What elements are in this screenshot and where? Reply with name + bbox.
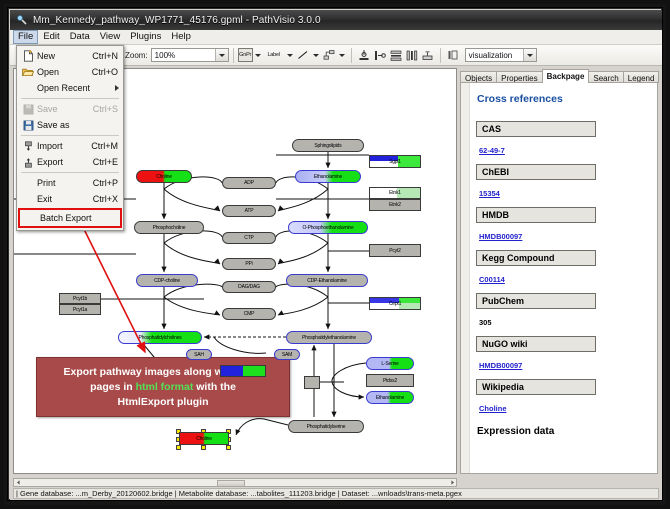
xref-source-cas: CAS <box>476 121 596 137</box>
menu-view[interactable]: View <box>95 30 125 44</box>
toolbar-separator <box>233 48 234 63</box>
callout-line-2-b: with the <box>193 381 236 393</box>
menu-item-open[interactable]: Open Ctrl+O <box>17 64 123 80</box>
blank-icon-2 <box>19 176 37 190</box>
toolbar-separator-3 <box>440 48 441 63</box>
xref-value-pubchem: 305 <box>479 318 492 327</box>
blank-icon <box>19 81 37 95</box>
xref-value-cas[interactable]: 62-49-7 <box>479 146 505 155</box>
xref-source-chebi: ChEBI <box>476 164 596 180</box>
menu-item-import-label: Import <box>37 141 91 151</box>
label-tool-label: Label <box>267 52 279 58</box>
line-dropdown-icon[interactable] <box>311 48 321 62</box>
datanode-tool-label: GnPr <box>239 52 251 58</box>
scroll-right-icon[interactable] <box>448 479 456 486</box>
statusbar: | Gene database: ...m_Derby_20120602.bri… <box>10 478 662 500</box>
label-dropdown-icon[interactable] <box>285 48 295 62</box>
label-tool-button[interactable]: Label <box>263 47 285 63</box>
backpage-scrollbar[interactable] <box>461 83 470 473</box>
scroll-left-icon[interactable] <box>14 479 22 486</box>
distribute-horizontal-icon[interactable] <box>404 47 420 63</box>
backpage-content: Cross references CAS 62-49-7 ChEBI 15354… <box>470 83 657 473</box>
distribute-vertical-icon[interactable] <box>388 47 404 63</box>
menu-item-save-as[interactable]: Save as <box>17 117 123 133</box>
xref-source-kegg-compound: Kegg Compound <box>476 250 596 266</box>
menu-item-print-shortcut: Ctrl+P <box>93 178 123 188</box>
node-label: Choline <box>196 436 212 442</box>
folder-open-icon <box>19 65 37 79</box>
menu-data[interactable]: Data <box>65 30 95 44</box>
import-icon <box>19 139 37 153</box>
toolbar-separator-2 <box>351 48 352 63</box>
expression-data-heading: Expression data <box>477 426 651 437</box>
file-menu-popup[interactable]: New Ctrl+N Open Ctrl+O Open Recent <box>16 45 124 231</box>
menu-item-open-shortcut: Ctrl+O <box>92 67 123 77</box>
xref-value-chebi[interactable]: 15354 <box>479 189 500 198</box>
submenu-arrow-icon <box>115 85 119 91</box>
visualization-chevron-down-icon[interactable] <box>523 49 536 61</box>
node-label: SAM <box>282 352 292 358</box>
window-titlebar: Mm_Kennedy_pathway_WP1771_45176.gpml - P… <box>10 10 662 30</box>
menu-item-save-as-label: Save as <box>37 120 118 130</box>
zoom-combobox[interactable]: 100% <box>151 48 229 62</box>
interaction-tool-button[interactable] <box>321 47 337 63</box>
node-sah[interactable]: SAH <box>186 349 212 360</box>
node-choline-bottom-selected[interactable]: Choline <box>179 432 229 445</box>
menu-separator-3 <box>21 172 119 173</box>
menu-item-open-label: Open <box>37 67 92 77</box>
menu-item-exit-shortcut: Ctrl+X <box>93 194 123 204</box>
menu-item-batch-export[interactable]: Batch Export <box>18 208 122 228</box>
blank-icon-4 <box>22 211 40 225</box>
datanode-tool-button[interactable]: GnPr <box>238 48 253 62</box>
panel-tabstrip: Objects Properties Backpage Search Legen… <box>460 68 659 83</box>
callout-highlight: html format <box>136 381 194 393</box>
chevron-down-icon[interactable] <box>215 49 228 61</box>
menubar: File Edit Data View Plugins Help <box>10 30 662 45</box>
window-title: Mm_Kennedy_pathway_WP1771_45176.gpml - P… <box>33 15 321 26</box>
callout-line-2: pages in html format with the <box>90 380 236 395</box>
visualization-icon[interactable] <box>445 47 461 63</box>
node-pemt[interactable] <box>220 365 266 377</box>
menu-separator-1 <box>21 98 119 99</box>
menu-item-exit[interactable]: Exit Ctrl+X <box>17 191 123 207</box>
tab-backpage[interactable]: Backpage <box>542 69 590 83</box>
side-panel: Objects Properties Backpage Search Legen… <box>460 68 659 474</box>
menu-edit[interactable]: Edit <box>38 30 64 44</box>
line-tool-button[interactable] <box>295 47 311 63</box>
desktop-background: Mm_Kennedy_pathway_WP1771_45176.gpml - P… <box>0 0 670 509</box>
xref-source-nugo-wiki: NuGO wiki <box>476 336 596 352</box>
menu-item-export[interactable]: Export Ctrl+E <box>17 154 123 170</box>
menu-item-new-label: New <box>37 51 92 61</box>
save-as-icon <box>19 118 37 132</box>
menu-item-print[interactable]: Print Ctrl+P <box>17 175 123 191</box>
menu-item-print-label: Print <box>37 178 93 188</box>
xref-value-wikipedia[interactable]: Choline <box>479 404 507 413</box>
xref-value-hmdb[interactable]: HMDB00097 <box>479 232 522 241</box>
xref-source-wikipedia: Wikipedia <box>476 379 596 395</box>
status-text: | Gene database: ...m_Derby_20120602.bri… <box>13 488 659 499</box>
interaction-dropdown-icon[interactable] <box>337 48 347 62</box>
datanode-dropdown-icon[interactable] <box>253 48 263 62</box>
menu-item-export-label: Export <box>37 157 93 167</box>
node-sam[interactable]: SAM <box>274 349 300 360</box>
pathvisio-window: Mm_Kennedy_pathway_WP1771_45176.gpml - P… <box>8 8 662 500</box>
menu-item-save[interactable]: Save Ctrl+S <box>17 101 123 117</box>
menu-item-import-shortcut: Ctrl+M <box>91 141 123 151</box>
common-size-icon[interactable] <box>420 47 436 63</box>
menu-item-save-shortcut: Ctrl+S <box>93 104 123 114</box>
menu-plugins[interactable]: Plugins <box>125 30 166 44</box>
zoom-value: 100% <box>155 51 175 60</box>
save-icon <box>19 102 37 116</box>
cross-references-heading: Cross references <box>477 93 651 105</box>
backpage-panel: Cross references CAS 62-49-7 ChEBI 15354… <box>460 82 658 474</box>
menu-item-import[interactable]: Import Ctrl+M <box>17 138 123 154</box>
menu-item-open-recent-label: Open Recent <box>37 83 123 93</box>
callout-line-3: HtmlExport plugin <box>118 395 209 410</box>
align-top-icon[interactable] <box>356 47 372 63</box>
menu-item-batch-export-label: Batch Export <box>40 213 120 223</box>
menu-item-export-shortcut: Ctrl+E <box>93 157 123 167</box>
zoom-label: Zoom: <box>125 51 148 60</box>
menu-item-exit-label: Exit <box>37 194 93 204</box>
new-file-icon <box>19 49 37 63</box>
xref-source-hmdb: HMDB <box>476 207 596 223</box>
menu-item-open-recent[interactable]: Open Recent <box>17 80 123 96</box>
visualization-value: visualization <box>469 51 513 60</box>
pathvisio-icon <box>16 14 28 26</box>
canvas-horizontal-scrollbar[interactable] <box>13 478 457 487</box>
menu-item-new-shortcut: Ctrl+N <box>92 51 123 61</box>
menu-item-new[interactable]: New Ctrl+N <box>17 48 123 64</box>
callout-line-2-a: pages in <box>90 381 136 393</box>
menu-help[interactable]: Help <box>166 30 196 44</box>
blank-icon-3 <box>19 192 37 206</box>
xref-value-kegg-compound[interactable]: C00114 <box>479 275 505 284</box>
align-left-icon[interactable] <box>372 47 388 63</box>
menu-separator-2 <box>21 135 119 136</box>
xref-source-pubchem: PubChem <box>476 293 596 309</box>
menu-item-save-label: Save <box>37 104 93 114</box>
node-label: SAH <box>194 352 204 358</box>
scrollbar-thumb[interactable] <box>217 480 245 487</box>
xref-value-nugo-wiki[interactable]: HMDB00097 <box>479 361 522 370</box>
visualization-combobox[interactable]: visualization <box>465 48 537 62</box>
menu-file[interactable]: File <box>13 30 38 44</box>
export-icon <box>19 155 37 169</box>
